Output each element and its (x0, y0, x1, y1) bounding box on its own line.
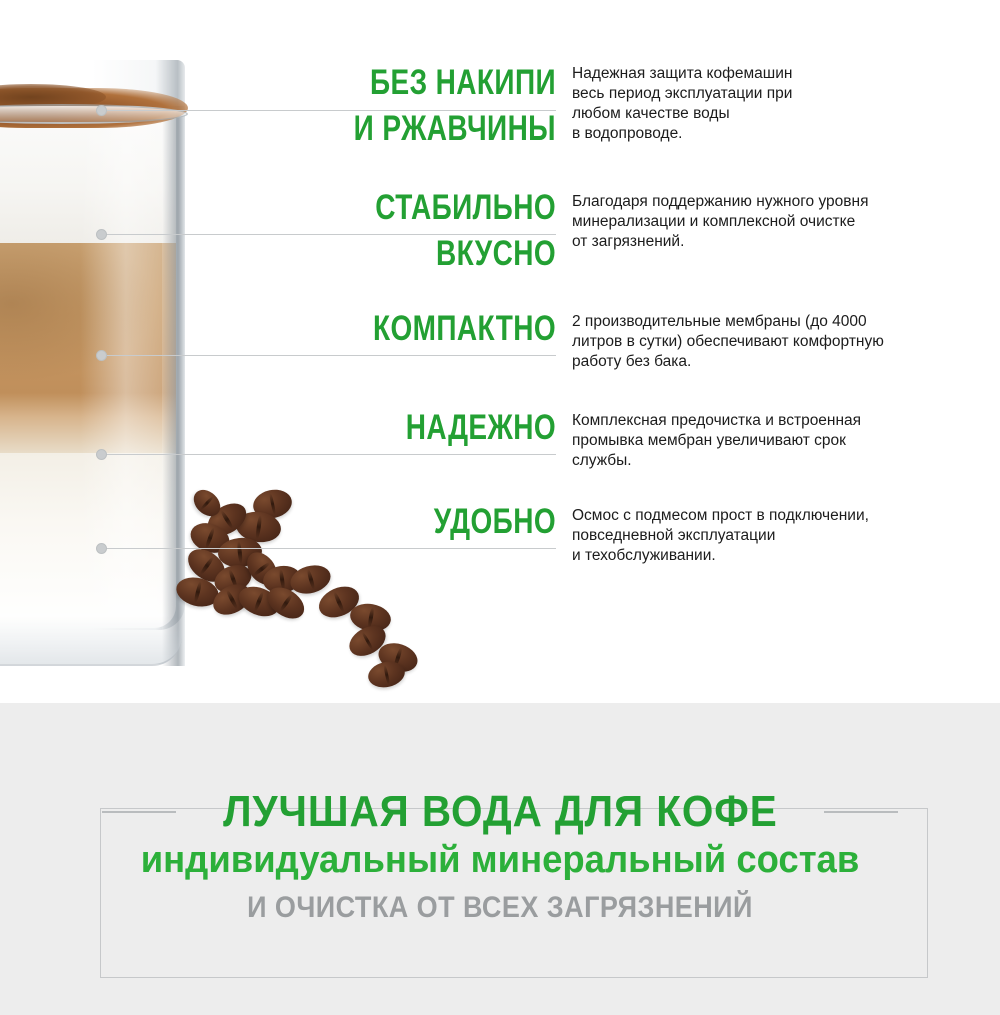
connector-dot (96, 543, 107, 554)
tagline-content: ЛУЧШАЯ ВОДА ДЛЯ КОФЕ индивидуальный мине… (0, 703, 1000, 1015)
feature-body-line: любом качестве воды (572, 104, 942, 124)
feature-body-line: промывка мембран увеличивают срок (572, 431, 952, 451)
feature-body-2: Благодаря поддержанию нужного уровня мин… (572, 192, 952, 252)
tagline-line1-row: ЛУЧШАЯ ВОДА ДЛЯ КОФЕ (0, 787, 1000, 837)
feature-item-5: УДОБНО (256, 503, 556, 563)
feature-item-4: НАДЕЖНО (256, 409, 556, 469)
connector-dot (96, 449, 107, 460)
feature-body-1: Надежная защита кофемашин весь период эк… (572, 64, 942, 144)
feature-body-4: Комплексная предочистка и встроенная про… (572, 411, 952, 471)
glass-base (0, 616, 182, 666)
feature-body-line: повседневной эксплуатации (572, 526, 952, 546)
feature-body-line: минерализации и комплексной очистке (572, 212, 952, 232)
feature-body-line: литров в сутки) обеспечивают комфортную (572, 332, 962, 352)
feature-heading-line1: УДОБНО (316, 503, 556, 541)
feature-heading-line2: ВКУСНО (316, 235, 556, 273)
feature-heading-line1: СТАБИЛЬНО (316, 189, 556, 227)
glass-sheen (0, 108, 176, 628)
feature-heading-line1: БЕЗ НАКИПИ (316, 64, 556, 102)
feature-body-line: весь период эксплуатации при (572, 84, 942, 104)
tagline-section: ЛУЧШАЯ ВОДА ДЛЯ КОФЕ индивидуальный мине… (0, 703, 1000, 1015)
feature-body-3: 2 производительные мембраны (до 4000 лит… (572, 312, 962, 372)
connector-dot (96, 229, 107, 240)
tagline-line1: ЛУЧШАЯ ВОДА ДЛЯ КОФЕ (223, 787, 778, 837)
feature-body-line: Осмос с подмесом прост в подключении, (572, 506, 952, 526)
feature-body-line: от загрязнений. (572, 232, 952, 252)
feature-body-line: Надежная защита кофемашин (572, 64, 942, 84)
glass-body-icon (0, 60, 185, 630)
feature-heading-line2: И РЖАВЧИНЫ (316, 110, 556, 148)
feature-body-line: и техобслуживании. (572, 546, 952, 566)
tagline-line3: И ОЧИСТКА ОТ ВСЕХ ЗАГРЯЗНЕНИЙ (50, 891, 950, 925)
feature-body-5: Осмос с подмесом прост в подключении, по… (572, 506, 952, 566)
feature-body-line: работу без бака. (572, 352, 962, 372)
feature-body-line: службы. (572, 451, 952, 471)
feature-heading-line1: НАДЕЖНО (316, 409, 556, 447)
feature-body-line: Комплексная предочистка и встроенная (572, 411, 952, 431)
tagline-rule-left (102, 811, 176, 813)
infographic-page: БЕЗ НАКИПИ И РЖАВЧИНЫ Надежная защита ко… (0, 0, 1000, 1015)
feature-item-1: БЕЗ НАКИПИ И РЖАВЧИНЫ (256, 64, 556, 174)
feature-body-line: в водопроводе. (572, 124, 942, 144)
features-section: БЕЗ НАКИПИ И РЖАВЧИНЫ Надежная защита ко… (0, 0, 1000, 703)
connector-dot (96, 105, 107, 116)
feature-heading-line1: КОМПАКТНО (316, 310, 556, 348)
feature-item-3: КОМПАКТНО (256, 310, 556, 370)
feature-item-2: СТАБИЛЬНО ВКУСНО (256, 189, 556, 299)
tagline-line2: индивидуальный минеральный состав (20, 839, 980, 882)
feature-body-line: Благодаря поддержанию нужного уровня (572, 192, 952, 212)
connector-dot (96, 350, 107, 361)
tagline-rule-right (824, 811, 898, 813)
latte-liquid-layers (0, 108, 176, 628)
feature-body-line: 2 производительные мембраны (до 4000 (572, 312, 962, 332)
